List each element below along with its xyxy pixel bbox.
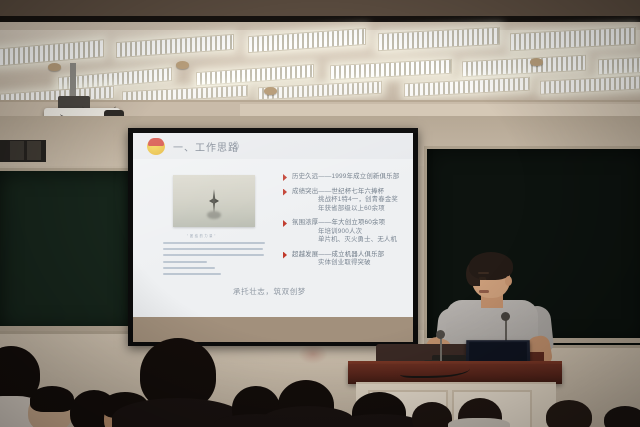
ceiling-soffit-ledge xyxy=(240,104,640,116)
projection-screen-top-bar xyxy=(128,128,418,133)
audience-head xyxy=(412,402,452,427)
presenter-mouth xyxy=(479,290,489,293)
audience-hair xyxy=(30,386,74,412)
slide-photo-sailboat xyxy=(173,175,255,227)
audience-head xyxy=(546,400,592,427)
blackboard-left xyxy=(0,168,136,334)
bullet-subline: 年培训900人次 xyxy=(318,228,411,237)
slide-bullet-item: 超越发展——成立机器人俱乐部 实体创业取得突破 xyxy=(283,251,411,268)
slide-text-panel-title: " 团 结 的 力 量 " xyxy=(187,233,216,238)
audience-shoulders xyxy=(338,414,422,427)
bullet-subline: 年获省部级以上60余项 xyxy=(318,205,411,214)
bullet-subline: 实体创业取得突破 xyxy=(318,259,411,268)
bullet-marker-icon xyxy=(283,174,287,181)
lecture-hall-scene: 一、工作思路 》 " 团 结 的 力 量 " 承托壮志，筑双创梦 历史久远—— xyxy=(0,0,640,427)
bullet-heading: 成绩突出——世纪杯七年六捧杯 xyxy=(292,188,411,197)
wall-equipment-box-panel xyxy=(10,141,24,160)
slide-caption: 承托壮志，筑双创梦 xyxy=(233,286,306,297)
ceiling-speaker-dome xyxy=(176,61,189,69)
presenter-eyebrow xyxy=(478,272,489,274)
slide-text-panel: " 团 结 的 力 量 " xyxy=(163,233,267,281)
audience-shoulders xyxy=(448,418,510,427)
microphone-icon xyxy=(501,312,510,321)
ceiling-speaker-dome xyxy=(530,58,543,66)
chevron-double-right-icon: 》 xyxy=(234,138,245,154)
bullet-subline: 单片机、灭火勇士、无人机 xyxy=(318,236,411,245)
bullet-subline: 挑战杯1特4一，创青春金奖 xyxy=(318,196,411,205)
presenter-ear xyxy=(505,276,512,286)
wall-stain xyxy=(298,344,328,364)
slide-bullet-item: 氛围浓厚——年大创立项60余项 年培训900人次 单片机、灭火勇士、无人机 xyxy=(283,219,411,245)
sailboat-icon xyxy=(209,189,219,213)
ceiling-light-panel xyxy=(598,57,640,76)
wall-equipment-box-panel xyxy=(27,141,41,160)
club-emblem-banner-icon xyxy=(148,138,164,146)
audience-head xyxy=(604,406,640,427)
presenter-eye xyxy=(479,277,486,280)
bullet-heading: 氛围浓厚——年大创立项60余项 xyxy=(292,219,411,228)
microphone-icon xyxy=(436,330,445,339)
projection-screen: 一、工作思路 》 " 团 结 的 力 量 " 承托壮志，筑双创梦 历史久远—— xyxy=(133,133,413,317)
slide-bullet-item: 成绩突出——世纪杯七年六捧杯 挑战杯1特4一，创青春金奖 年获省部级以上60余项 xyxy=(283,188,411,214)
bullet-heading: 超越发展——成立机器人俱乐部 xyxy=(292,251,411,260)
ceiling-speaker-dome xyxy=(48,63,61,71)
presentation-slide: 一、工作思路 》 " 团 结 的 力 量 " 承托壮志，筑双创梦 历史久远—— xyxy=(133,133,413,317)
chalk-tray-left xyxy=(0,326,132,331)
ceiling-speaker-dome xyxy=(264,87,277,95)
bullet-marker-icon xyxy=(283,220,287,227)
slide-bullet-list: 历史久远——1999年成立创新俱乐部 成绩突出——世纪杯七年六捧杯 挑战杯1特4… xyxy=(283,173,411,274)
ceiling-upper-shadow xyxy=(0,0,640,16)
slide-bullet-item: 历史久远——1999年成立创新俱乐部 xyxy=(283,173,411,182)
bullet-marker-icon xyxy=(283,189,287,196)
bullet-marker-icon xyxy=(283,252,287,259)
slide-title: 一、工作思路 xyxy=(173,139,239,154)
bullet-heading: 历史久远——1999年成立创新俱乐部 xyxy=(292,173,411,182)
